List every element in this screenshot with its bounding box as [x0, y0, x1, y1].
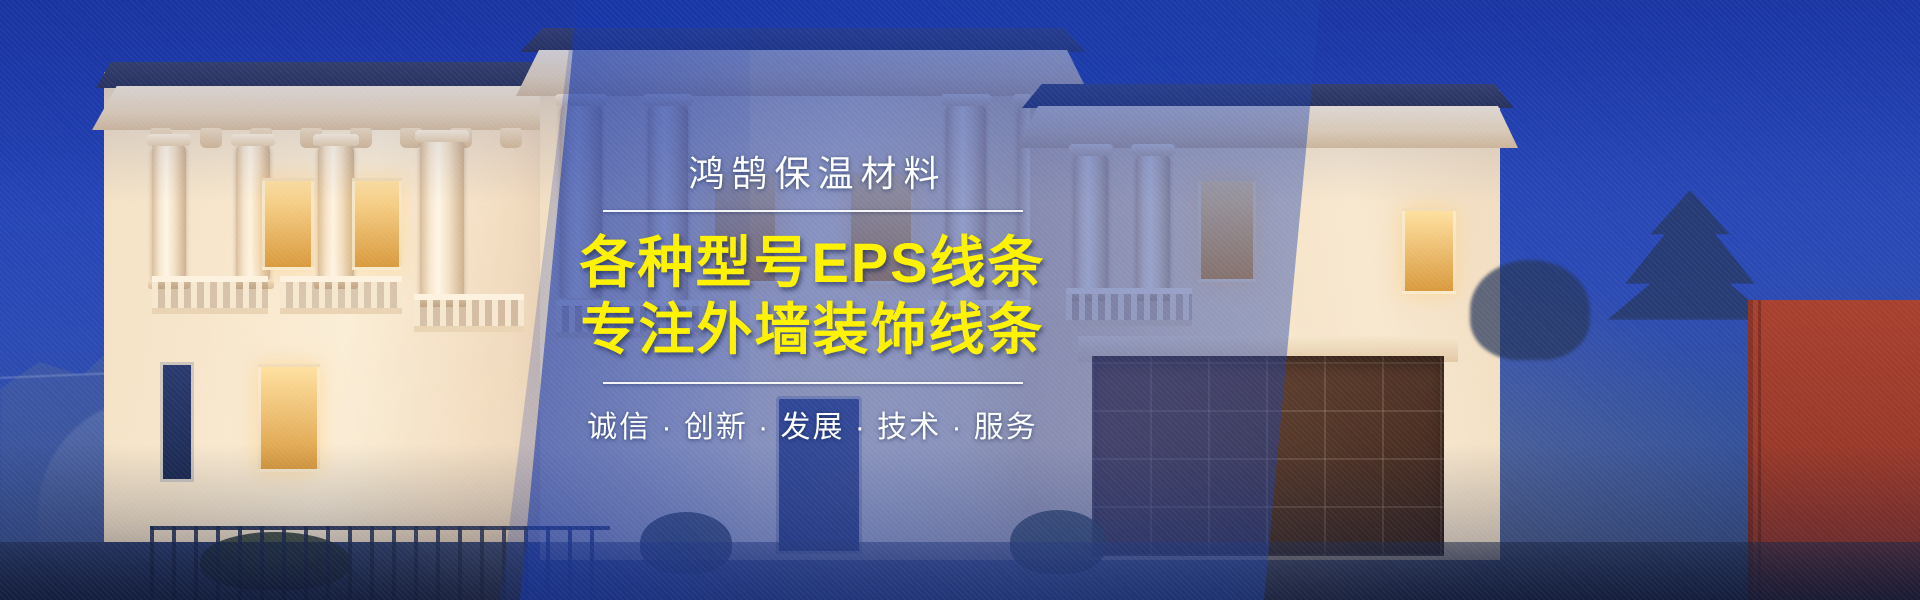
divider-top: [603, 210, 1023, 212]
column: [152, 144, 186, 282]
center-roof: [520, 28, 1086, 52]
headline-line-2: 专注外墙装饰线条: [581, 299, 1045, 362]
lit-window: [1198, 178, 1256, 282]
lit-window: [258, 364, 320, 472]
right-wing-roof: [1022, 84, 1514, 108]
cornice-bracket: [200, 128, 222, 148]
foreground-ground: [0, 542, 1920, 600]
lit-window: [352, 178, 402, 270]
tagline: 诚信 · 创新 · 发展 · 技术 · 服务: [587, 402, 1038, 446]
column: [420, 140, 464, 300]
garage-door: [1092, 356, 1444, 556]
lit-window: [262, 178, 314, 270]
balustrade: [414, 294, 524, 332]
balustrade: [1066, 288, 1192, 326]
tree: [1470, 260, 1590, 360]
divider-bottom: [603, 382, 1023, 384]
brand-subtitle: 鸿鹄保温材料: [688, 154, 946, 194]
balustrade: [152, 276, 268, 314]
column: [1136, 154, 1170, 294]
column: [318, 144, 354, 282]
center-cornice: [516, 50, 1090, 96]
headline-line-1: 各种型号EPS线条: [579, 232, 1045, 295]
lit-window: [1402, 208, 1456, 294]
cornice-bracket: [500, 128, 522, 148]
balustrade: [280, 276, 402, 314]
window: [160, 362, 194, 482]
left-wing-cornice: [92, 86, 586, 130]
left-wing-roof: [96, 62, 582, 88]
promo-banner: 鸿鹄保温材料 各种型号EPS线条 专注外墙装饰线条 诚信 · 创新 · 发展 ·…: [0, 0, 1920, 600]
right-wing-cornice: [1018, 106, 1518, 148]
